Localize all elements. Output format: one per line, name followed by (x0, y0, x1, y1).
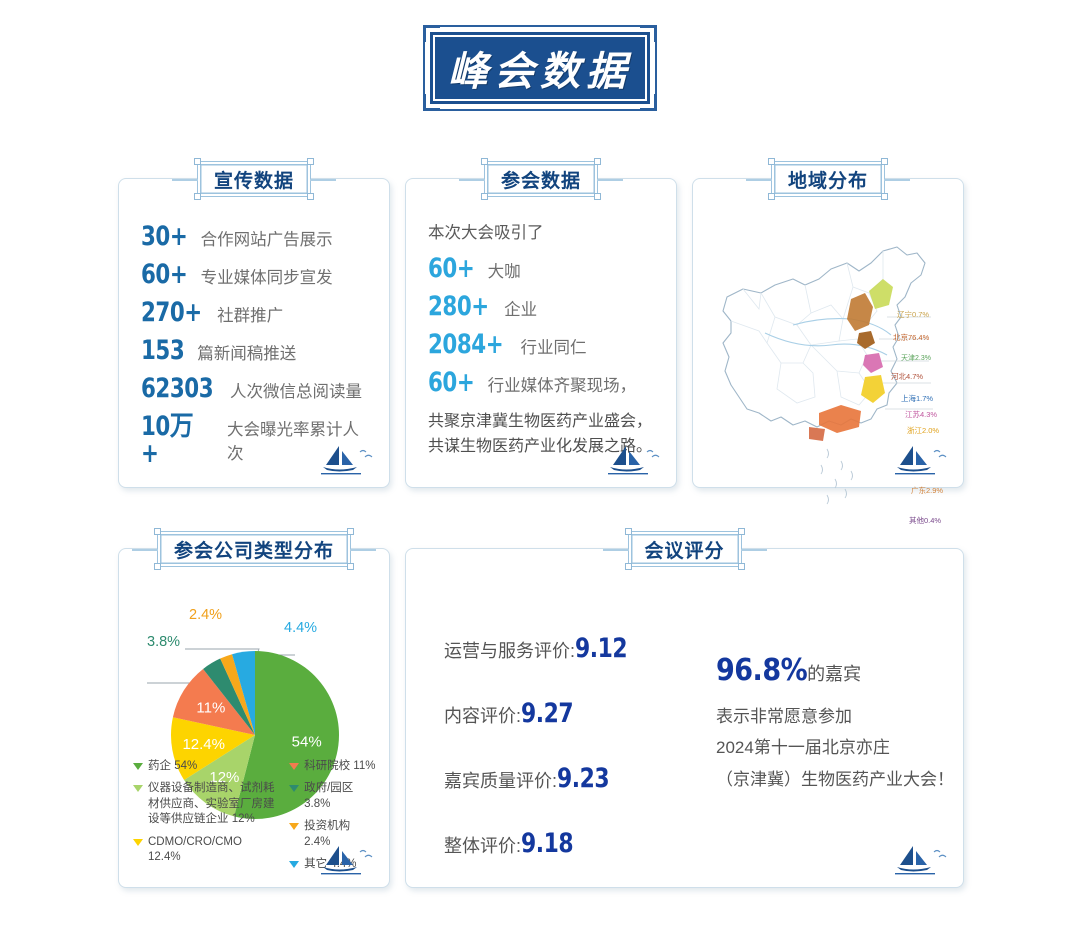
card-heading-label: 会议评分 (644, 536, 724, 563)
map-label: 北京76.4% (893, 332, 929, 343)
heading-tick-tl (481, 158, 488, 165)
card-heading-label: 参会数据 (501, 166, 581, 193)
heading-rule-left (132, 549, 158, 551)
infographic-page: 峰会数据 宣传数据 30+ 合作网站广告展示 60+ 专业媒体同步宣发 270+… (0, 0, 1080, 941)
page-title-plaque: 峰会数据 (430, 32, 650, 104)
quote-suffix: 的嘉宾 (807, 664, 861, 684)
stat-label: 合作网站广告展示 (201, 226, 333, 250)
heading-rule-right (741, 549, 767, 551)
score-value: 9.23 (557, 763, 609, 794)
heading-tick-tr (307, 158, 314, 165)
heading-tick-tl (154, 528, 161, 535)
legend-item: 科研院校 11% (289, 759, 379, 775)
stat-label: 人次微信总阅读量 (230, 378, 362, 402)
satisfaction-quote: 96.8%的嘉宾 表示非常愿意参加 2024第十一届北京亦庄 （京津冀）生物医药… (716, 653, 954, 795)
quote-line: 表示非常愿意参加 (716, 701, 954, 732)
stat-number: 60+ (428, 369, 474, 396)
quote-percentage: 96.8% (716, 653, 807, 688)
heading-tick-br (347, 563, 354, 570)
heading-tick-tr (881, 158, 888, 165)
pie-callout-label: 3.8% (147, 634, 180, 650)
pie-callout-label: 2.4% (189, 607, 222, 623)
stat-row: 60+ 行业媒体齐聚现场， (428, 369, 662, 396)
card-score-heading: 会议评分 (627, 531, 741, 567)
stat-label: 专业媒体同步宣发 (201, 264, 333, 288)
sailboat-icon (606, 443, 662, 477)
pie-slice-label: 12.4% (182, 736, 225, 753)
heading-rule-left (746, 179, 772, 181)
heading-tick-br (307, 193, 314, 200)
stat-row: 153 篇新闻稿推送 (141, 337, 375, 364)
score-row: 整体评价:9.18 (444, 828, 633, 859)
legend-label: 药企 54% (148, 759, 197, 775)
legend-triangle-icon (289, 785, 299, 792)
stat-row: 30+ 合作网站广告展示 (141, 223, 375, 250)
pie-slice-label: 54% (292, 734, 322, 751)
stat-number: 153 (141, 337, 184, 364)
stat-row: 270+ 社群推广 (141, 299, 375, 326)
card-attendance-heading: 参会数据 (484, 161, 598, 197)
card-region-heading: 地域分布 (771, 161, 885, 197)
heading-tick-bl (481, 193, 488, 200)
promotion-stat-list: 30+ 合作网站广告展示 60+ 专业媒体同步宣发 270+ 社群推广 153 … (141, 223, 375, 478)
quote-headline: 96.8%的嘉宾 (716, 653, 954, 688)
heading-tick-tl (624, 528, 631, 535)
map-label: 广东2.9% (911, 485, 943, 496)
map-label: 辽宁0.7% (897, 309, 929, 320)
score-list: 运营与服务评价:9.12 内容评价:9.27 嘉宾质量评价:9.23 整体评价:… (444, 633, 633, 893)
heading-tick-br (594, 193, 601, 200)
stat-label: 行业媒体齐聚现场， (488, 372, 637, 396)
sailboat-icon (893, 843, 949, 877)
title-outer-frame (423, 25, 657, 111)
stat-number: 62303 (141, 375, 213, 402)
card-promotion-data: 宣传数据 30+ 合作网站广告展示 60+ 专业媒体同步宣发 270+ 社群推广… (118, 178, 390, 488)
heading-tick-bl (154, 563, 161, 570)
stat-number: 60+ (428, 255, 474, 282)
legend-label: CDMO/CRO/CMO 12.4% (148, 835, 275, 866)
attendance-lead-text: 本次大会吸引了 (428, 219, 662, 243)
stat-label: 行业同仁 (520, 334, 586, 358)
title-corner-tr (640, 26, 656, 42)
legend-label: 科研院校 11% (304, 759, 375, 775)
heading-tick-bl (768, 193, 775, 200)
map-label: 上海1.7% (901, 393, 933, 404)
legend-label: 仪器设备制造商、试剂耗材供应商、实验室厂房建设等供应链企业 12% (148, 781, 275, 828)
score-value: 9.12 (575, 633, 627, 664)
card-heading-label: 地域分布 (788, 166, 868, 193)
card-heading-label: 宣传数据 (214, 166, 294, 193)
stat-number: 2084+ (428, 331, 503, 358)
score-row: 内容评价:9.27 (444, 698, 633, 729)
heading-tick-tr (347, 528, 354, 535)
score-label: 内容评价: (444, 706, 521, 726)
map-label: 河北4.7% (891, 371, 923, 382)
score-value: 9.18 (521, 828, 573, 859)
score-label: 整体评价: (444, 836, 521, 856)
title-corner-bl (424, 94, 440, 110)
heading-tick-tl (194, 158, 201, 165)
heading-tick-tr (738, 528, 745, 535)
stat-row: 60+ 大咖 (428, 255, 662, 282)
pie-callout-label: 4.4% (284, 620, 317, 636)
heading-rule-right (597, 179, 623, 181)
heading-tick-tr (594, 158, 601, 165)
score-label: 嘉宾质量评价: (444, 771, 557, 791)
stat-label: 社群推广 (217, 302, 283, 326)
card-pie-heading: 参会公司类型分布 (157, 531, 351, 567)
score-row: 运营与服务评价:9.12 (444, 633, 633, 664)
heading-rule-left (172, 179, 198, 181)
card-region-distribution: 地域分布 (692, 178, 964, 488)
title-corner-tl (424, 26, 440, 42)
stat-row: 62303 人次微信总阅读量 (141, 375, 375, 402)
heading-tick-bl (194, 193, 201, 200)
map-label: 其他0.4% (909, 515, 941, 526)
quote-line: 2024第十一届北京亦庄 (716, 732, 954, 763)
legend-triangle-icon (289, 763, 299, 770)
heading-tick-br (738, 563, 745, 570)
heading-tick-br (881, 193, 888, 200)
stat-label: 大咖 (488, 258, 521, 282)
map-label: 浙江2.0% (907, 425, 939, 436)
legend-item: 药企 54% (133, 759, 275, 775)
card-company-type-pie: 参会公司类型分布 54%12%12.4%11% 2.4% 3.8% 4.4% (118, 548, 390, 888)
card-promotion-heading: 宣传数据 (197, 161, 311, 197)
card-conference-score: 会议评分 运营与服务评价:9.12 内容评价:9.27 嘉宾质量评价:9.23 … (405, 548, 964, 888)
stat-number: 270+ (141, 299, 202, 326)
map-label: 天津2.3% (901, 353, 931, 363)
heading-rule-right (350, 549, 376, 551)
legend-item: 仪器设备制造商、试剂耗材供应商、实验室厂房建设等供应链企业 12% (133, 781, 275, 828)
quote-line: （京津冀）生物医药产业大会！ (716, 764, 954, 795)
attendance-tail-line-1: 共聚京津冀生物医药产业盛会， (428, 410, 662, 435)
legend-triangle-icon (289, 861, 299, 868)
stat-number: 60+ (141, 261, 187, 288)
legend-item: 政府/园区 3.8% (289, 781, 379, 812)
legend-triangle-icon (133, 785, 143, 792)
stat-row: 280+ 企业 (428, 293, 662, 320)
map-label: 江苏4.3% (905, 409, 937, 420)
heading-rule-left (602, 549, 628, 551)
heading-tick-tl (768, 158, 775, 165)
sailboat-icon (893, 443, 949, 477)
card-heading-label: 参会公司类型分布 (174, 536, 334, 563)
stat-label: 企业 (504, 296, 537, 320)
heading-rule-left (459, 179, 485, 181)
legend-label: 政府/园区 3.8% (304, 781, 379, 812)
sailboat-icon (319, 843, 375, 877)
heading-tick-bl (624, 563, 631, 570)
score-value: 9.27 (521, 698, 573, 729)
stat-row: 60+ 专业媒体同步宣发 (141, 261, 375, 288)
pie-slice-label: 11% (196, 699, 225, 716)
legend-item: CDMO/CRO/CMO 12.4% (133, 835, 275, 866)
heading-rule-right (310, 179, 336, 181)
title-corner-br (640, 94, 656, 110)
stat-number: 280+ (428, 293, 489, 320)
legend-triangle-icon (133, 839, 143, 846)
stat-label: 篇新闻稿推送 (197, 340, 296, 364)
score-label: 运营与服务评价: (444, 641, 575, 661)
heading-rule-right (884, 179, 910, 181)
stat-number: 30+ (141, 223, 187, 250)
sailboat-icon (319, 443, 375, 477)
legend-triangle-icon (289, 823, 299, 830)
stat-number: 10万+ (141, 413, 210, 467)
stat-row: 2084+ 行业同仁 (428, 331, 662, 358)
score-row: 嘉宾质量评价:9.23 (444, 763, 633, 794)
card-attendance-data: 参会数据 本次大会吸引了 60+ 大咖 280+ 企业 2084+ 行业同仁 6… (405, 178, 677, 488)
attendance-stat-list: 本次大会吸引了 60+ 大咖 280+ 企业 2084+ 行业同仁 60+ 行业… (428, 219, 662, 460)
pie-legend-column-left: 药企 54% 仪器设备制造商、试剂耗材供应商、实验室厂房建设等供应链企业 12%… (133, 759, 275, 873)
legend-triangle-icon (133, 763, 143, 770)
